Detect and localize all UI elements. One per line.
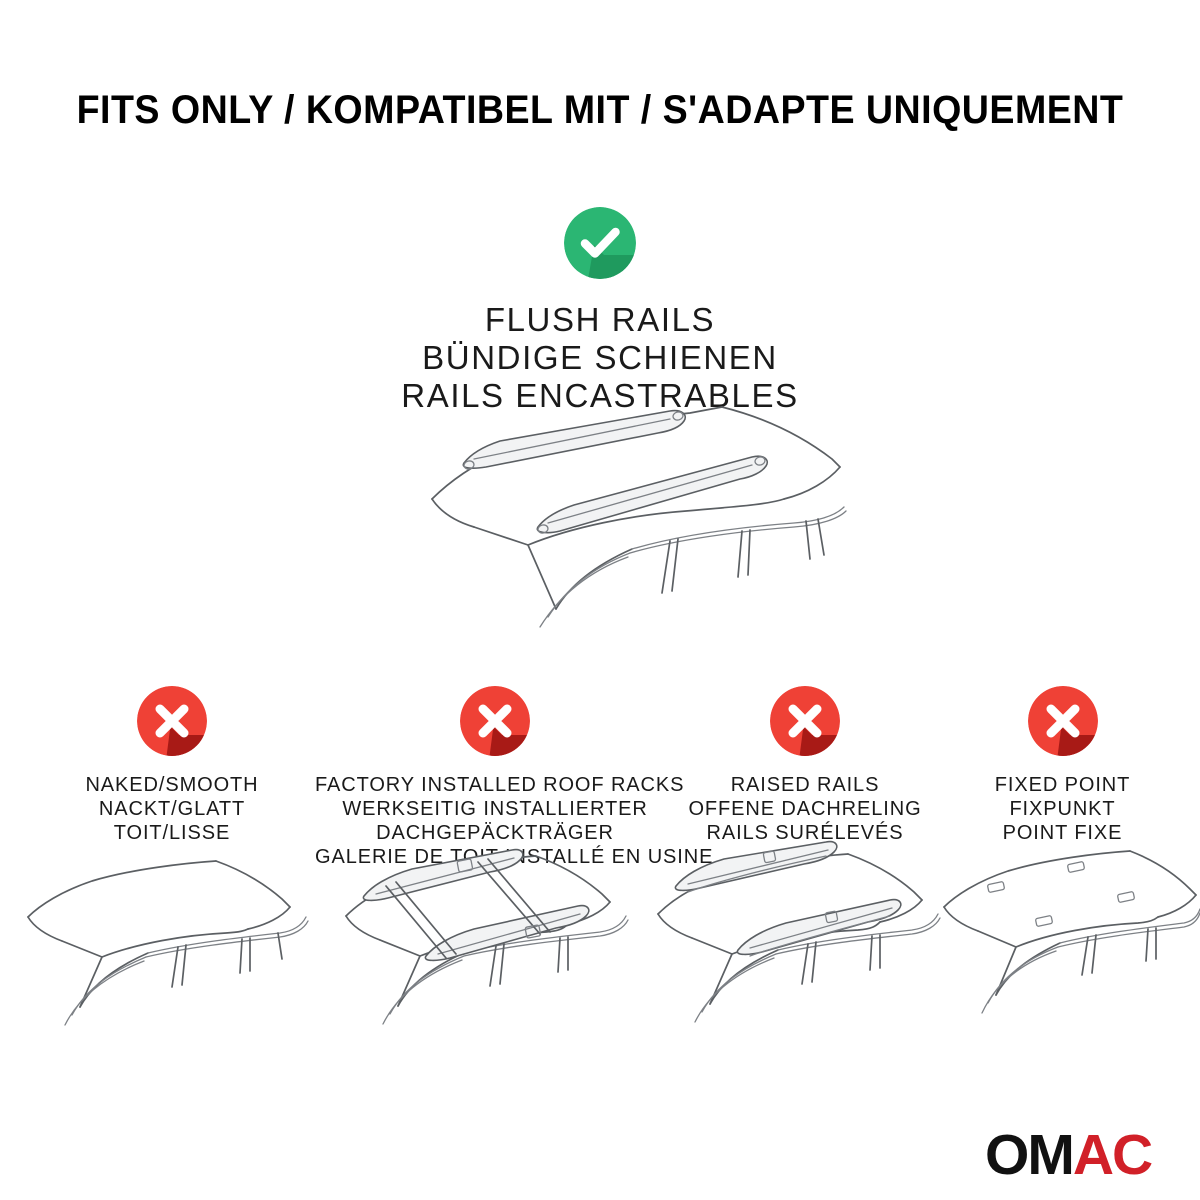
rejected-option-raised-rails: RAISED RAILS OFFENE DACHRELING RAILS SUR…	[665, 686, 945, 845]
rejected-label-fr: POINT FIXE	[945, 821, 1180, 845]
omac-logo-dark-part: OM	[985, 1123, 1073, 1187]
check-circle-icon	[564, 207, 636, 279]
rejected-label-de: NACKT/GLATT	[32, 797, 312, 821]
rejected-label-group: FIXED POINT FIXPUNKT POINT FIXE	[945, 773, 1180, 845]
rejected-label-de-1: WERKSEITIG INSTALLIERTER	[315, 797, 675, 821]
approved-label-en: FLUSH RAILS	[0, 301, 1200, 339]
approved-section: FLUSH RAILS BÜNDIGE SCHIENEN RAILS ENCAS…	[0, 207, 1200, 415]
rejected-option-naked-smooth: NAKED/SMOOTH NACKT/GLATT TOIT/LISSE	[32, 686, 312, 845]
car-roof-with-flush-rails-illustration	[370, 395, 850, 635]
car-roof-naked-smooth-illustration	[10, 855, 310, 1060]
rejected-label-en: RAISED RAILS	[665, 773, 945, 797]
rejected-label-fr: TOIT/LISSE	[32, 821, 312, 845]
omac-logo-red-part: AC	[1073, 1123, 1151, 1187]
rejected-label-en: FACTORY INSTALLED ROOF RACKS	[315, 773, 675, 797]
omac-logo: OMAC	[985, 1126, 1170, 1184]
approved-label-de: BÜNDIGE SCHIENEN	[0, 339, 1200, 377]
cross-circle-icon	[1028, 686, 1098, 756]
cross-circle-icon	[770, 686, 840, 756]
car-roof-factory-roof-racks-illustration	[318, 838, 638, 1058]
rejected-label-en: FIXED POINT	[945, 773, 1180, 797]
page-title: FITS ONLY / KOMPATIBEL MIT / S'ADAPTE UN…	[36, 88, 1164, 133]
car-roof-fixed-point-illustration	[930, 845, 1200, 1045]
rejected-label-group: NAKED/SMOOTH NACKT/GLATT TOIT/LISSE	[32, 773, 312, 845]
cross-circle-icon	[137, 686, 207, 756]
cross-circle-icon	[460, 686, 530, 756]
rejected-label-de: FIXPUNKT	[945, 797, 1180, 821]
rejected-label-group: RAISED RAILS OFFENE DACHRELING RAILS SUR…	[665, 773, 945, 845]
rejected-label-en: NAKED/SMOOTH	[32, 773, 312, 797]
rejected-label-de: OFFENE DACHRELING	[665, 797, 945, 821]
car-roof-raised-rails-illustration	[630, 840, 950, 1055]
rejected-option-fixed-point: FIXED POINT FIXPUNKT POINT FIXE	[945, 686, 1180, 845]
